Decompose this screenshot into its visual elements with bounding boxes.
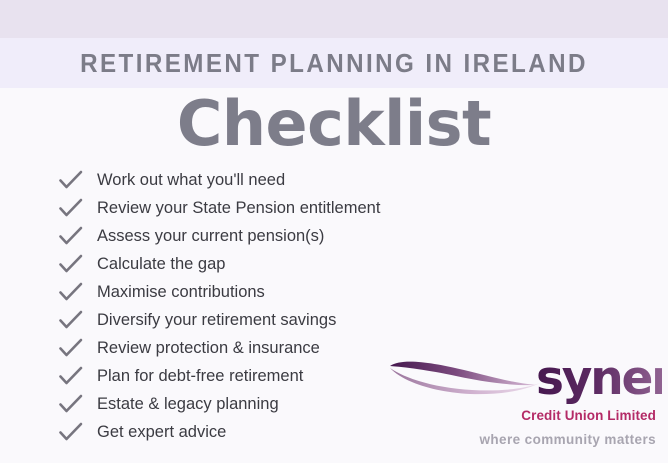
check-icon: [58, 337, 88, 359]
list-item[interactable]: Maximise contributions: [58, 278, 458, 306]
logo-tagline: where community matters: [384, 432, 662, 447]
list-item-label: Review protection & insurance: [88, 339, 320, 358]
list-item-label: Plan for debt-free retirement: [88, 367, 303, 386]
list-item-label: Review your State Pension entitlement: [88, 199, 380, 218]
check-icon: [58, 169, 88, 191]
check-icon: [58, 393, 88, 415]
list-item-label: Get expert advice: [88, 423, 226, 442]
list-item[interactable]: Review your State Pension entitlement: [58, 194, 458, 222]
list-item[interactable]: Diversify your retirement savings: [58, 306, 458, 334]
list-item-label: Maximise contributions: [88, 283, 265, 302]
list-item-label: Calculate the gap: [88, 255, 225, 274]
poster-canvas: Retirement Planning in Ireland Checklist…: [0, 0, 668, 463]
svg-text:synergy: synergy: [536, 352, 662, 406]
header-top-band: [0, 0, 668, 38]
page-title: Checklist: [177, 93, 491, 155]
list-item-label: Assess your current pension(s): [88, 227, 324, 246]
list-item-label: Work out what you'll need: [88, 171, 285, 190]
check-icon: [58, 225, 88, 247]
logo-subtitle: Credit Union Limited: [384, 408, 662, 423]
list-item[interactable]: Work out what you'll need: [58, 166, 458, 194]
check-icon: [58, 421, 88, 443]
check-icon: [58, 281, 88, 303]
check-icon: [58, 253, 88, 275]
check-icon: [58, 197, 88, 219]
synergy-logo[interactable]: synergy Credit Union Limited where commu…: [384, 352, 662, 456]
list-item[interactable]: Assess your current pension(s): [58, 222, 458, 250]
list-item[interactable]: Calculate the gap: [58, 250, 458, 278]
page-title-wrap: Checklist: [0, 88, 668, 160]
check-icon: [58, 365, 88, 387]
swoosh-icon: [390, 362, 540, 395]
eyebrow-heading: Retirement Planning in Ireland: [80, 48, 588, 79]
list-item-label: Diversify your retirement savings: [88, 311, 336, 330]
header-eyebrow-band: Retirement Planning in Ireland: [0, 38, 668, 88]
check-icon: [58, 309, 88, 331]
logo-mark: synergy: [384, 352, 662, 408]
list-item-label: Estate & legacy planning: [88, 395, 279, 414]
